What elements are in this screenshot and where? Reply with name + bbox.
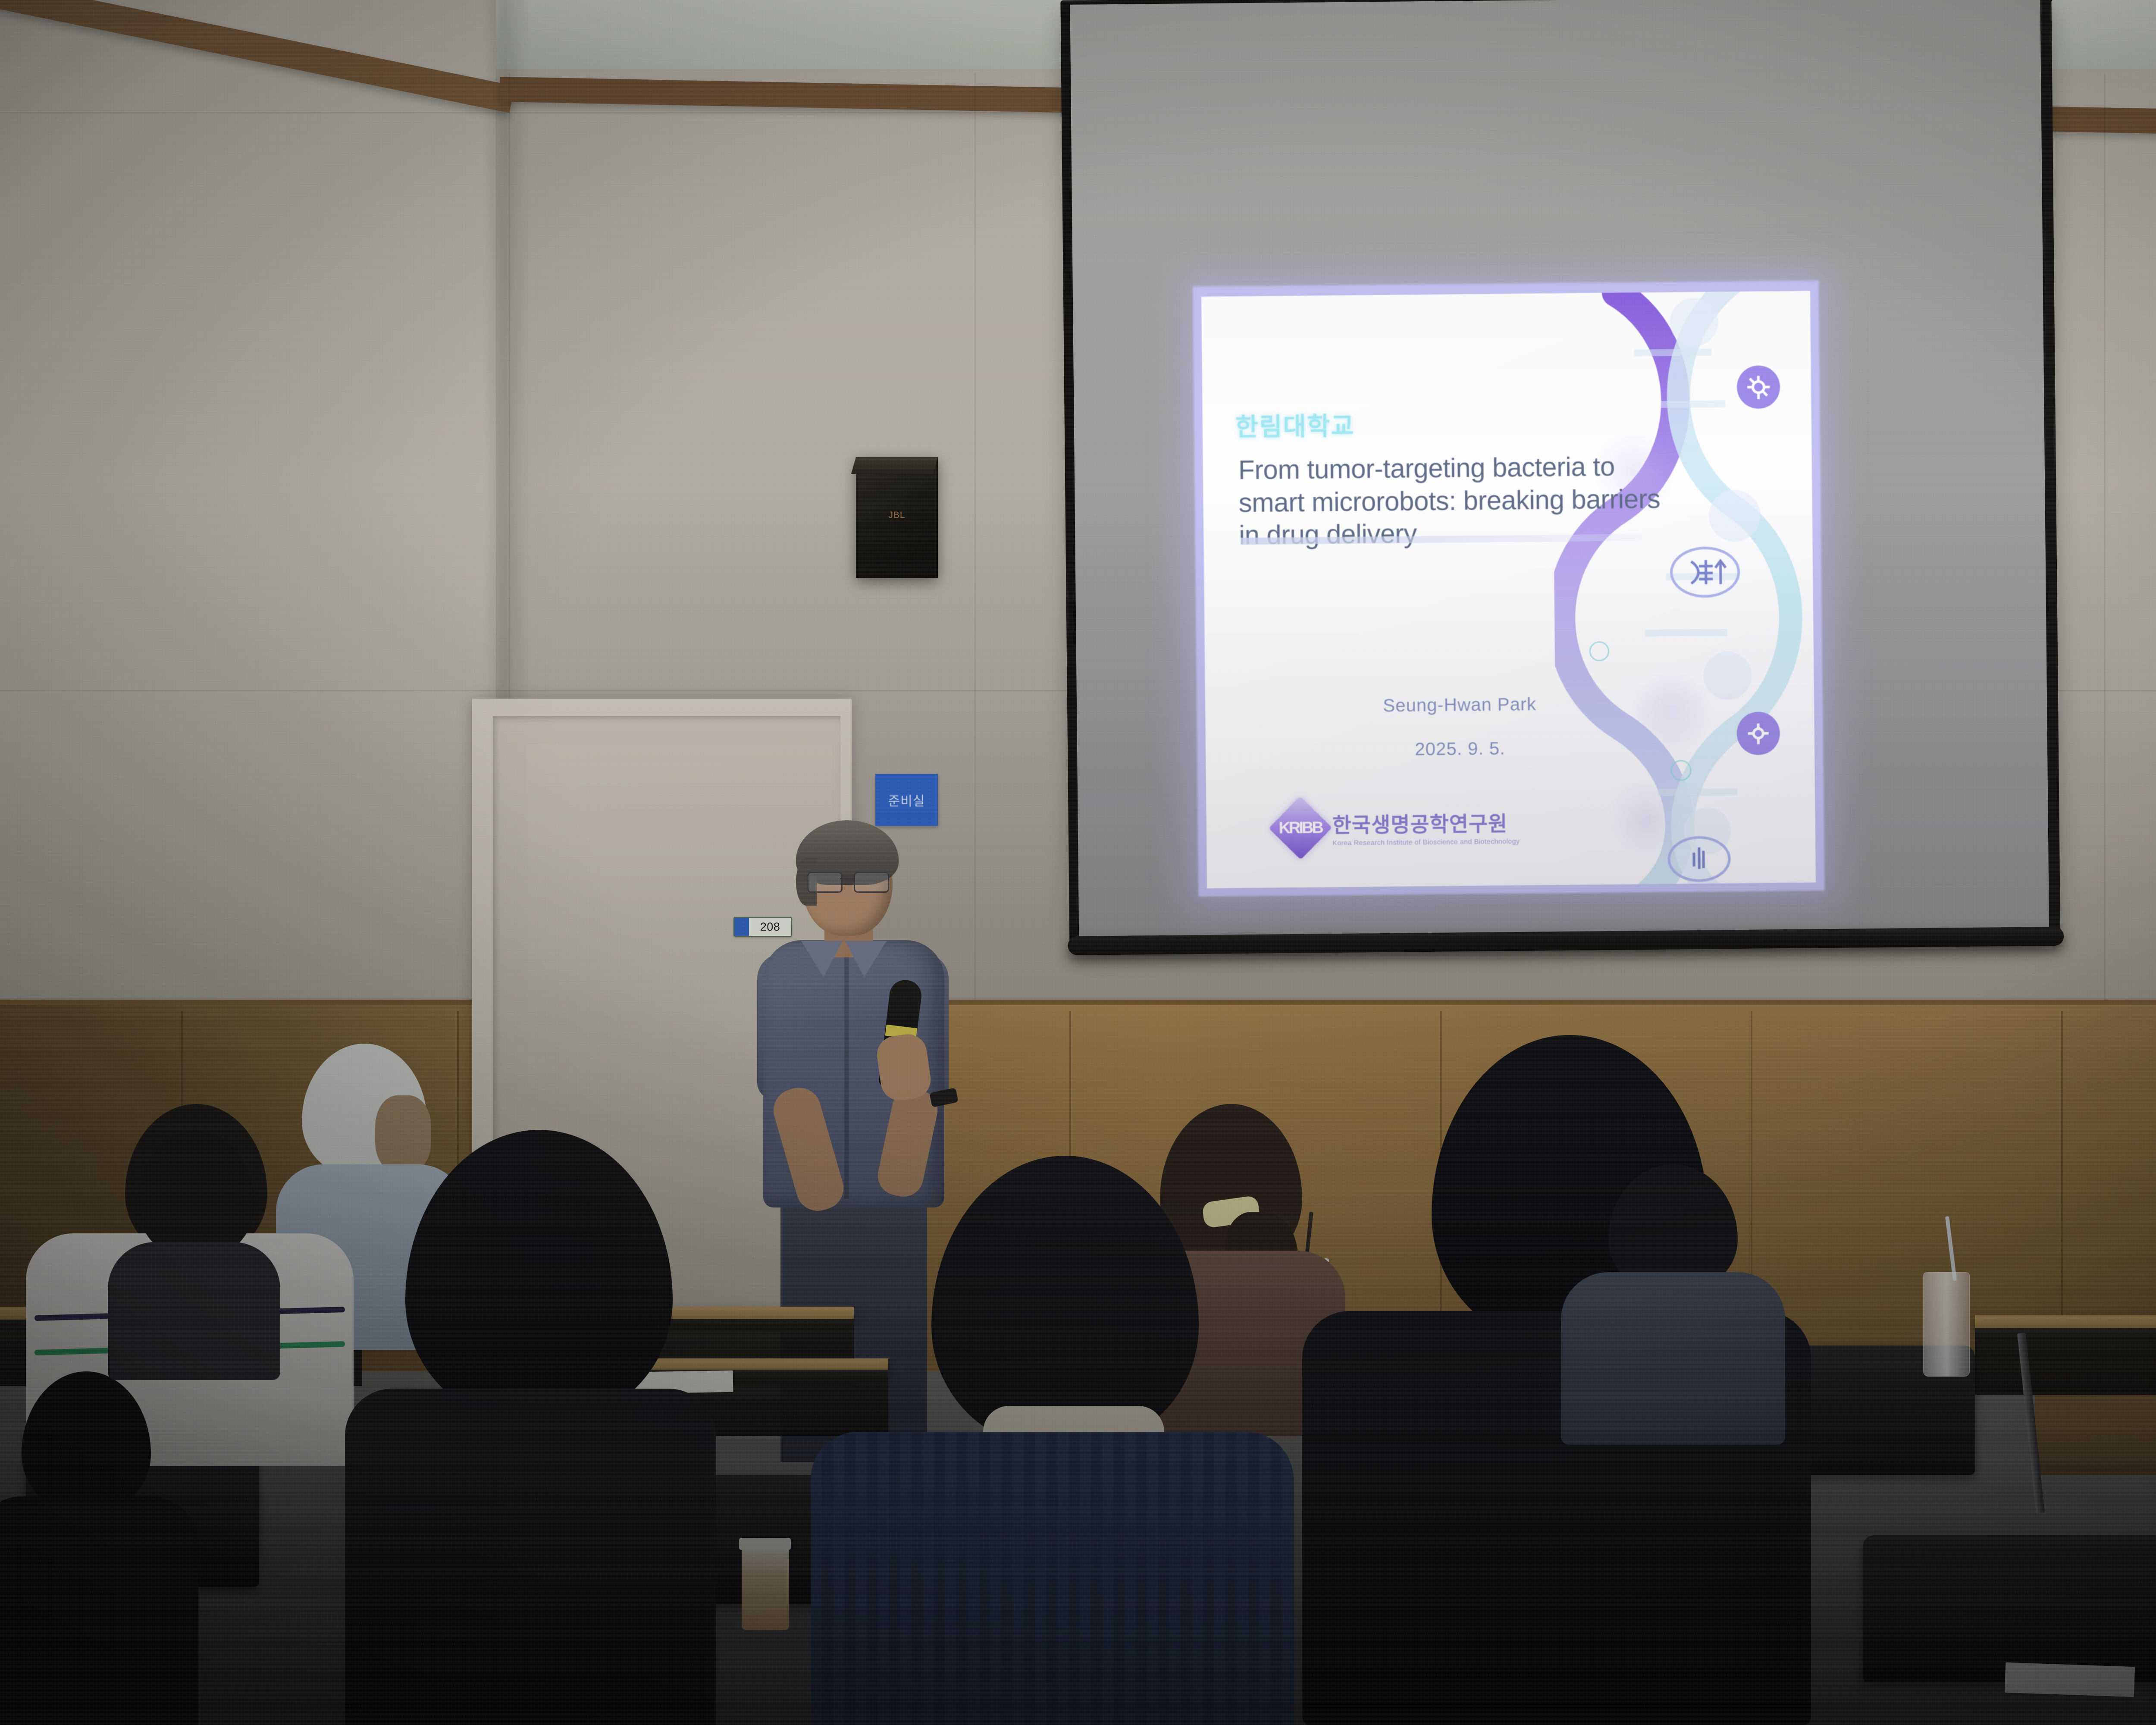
dna-helix-decoration	[1551, 291, 1816, 888]
kribb-mark-label: KRIBB	[1279, 819, 1322, 837]
kribb-english-name: Korea Research Institute of Bioscience a…	[1332, 837, 1520, 847]
slide-accent-ring	[1670, 760, 1691, 781]
attendee-shirt	[345, 1389, 716, 1725]
attendee-right-back	[1561, 1164, 1785, 1440]
desk-apron	[1975, 1339, 2156, 1395]
kribb-diamond-mark: KRIBB	[1269, 796, 1332, 859]
desk	[1975, 1315, 2156, 1330]
attendee-shirt	[108, 1242, 280, 1380]
attendee-hair	[22, 1371, 151, 1514]
chair	[1863, 1535, 2156, 1682]
cup-lid	[739, 1538, 791, 1550]
attendee-left-extra	[108, 1130, 280, 1371]
attendee-navy-stripe	[811, 1156, 1294, 1725]
presenter-glasses	[807, 872, 889, 891]
prep-room-sign-label: 준비실	[888, 790, 925, 809]
wall-speaker-left: JBL	[856, 457, 938, 578]
water-bottle	[1923, 1272, 1970, 1377]
slide-blob	[1607, 779, 1686, 858]
paper-cup	[742, 1544, 789, 1630]
kribb-wordmark: 한국생명공학연구원 Korea Research Institute of Bi…	[1332, 806, 1520, 847]
slide-university-name: 한림대학교	[1235, 406, 1355, 443]
speaker-top-bevel	[851, 457, 938, 474]
projection-screen: 한림대학교 From tumor-targeting bacteria to s…	[1060, 0, 2061, 962]
attendee-center-dark	[345, 1130, 716, 1725]
glasses-bridge	[840, 878, 855, 879]
attendee-hair	[138, 1130, 254, 1259]
attendee-shirt	[0, 1496, 198, 1725]
speaker-brand-label: JBL	[888, 510, 905, 521]
attendee-hair	[405, 1130, 673, 1423]
wall-seam	[2104, 73, 2106, 1031]
kribb-korean-name: 한국생명공학연구원	[1332, 806, 1520, 838]
lecture-hall-scene: 208 준비실 JBL JBL	[0, 0, 2156, 1725]
left-return-wall	[0, 0, 496, 1057]
slide-accent-ring	[1589, 641, 1609, 661]
attendee-dark-left	[0, 1371, 198, 1725]
paper-sheet	[2005, 1662, 2135, 1697]
kribb-logo: KRIBB 한국생명공학연구원 Korea Research Institute…	[1278, 803, 1520, 850]
attendee-hair	[931, 1156, 1199, 1449]
attendee-shirt	[811, 1432, 1294, 1725]
attendee-shirt	[1561, 1272, 1785, 1445]
glasses-lens-right	[854, 872, 889, 893]
glasses-lens-left	[807, 872, 843, 893]
projected-slide: 한림대학교 From tumor-targeting bacteria to s…	[1201, 291, 1816, 888]
